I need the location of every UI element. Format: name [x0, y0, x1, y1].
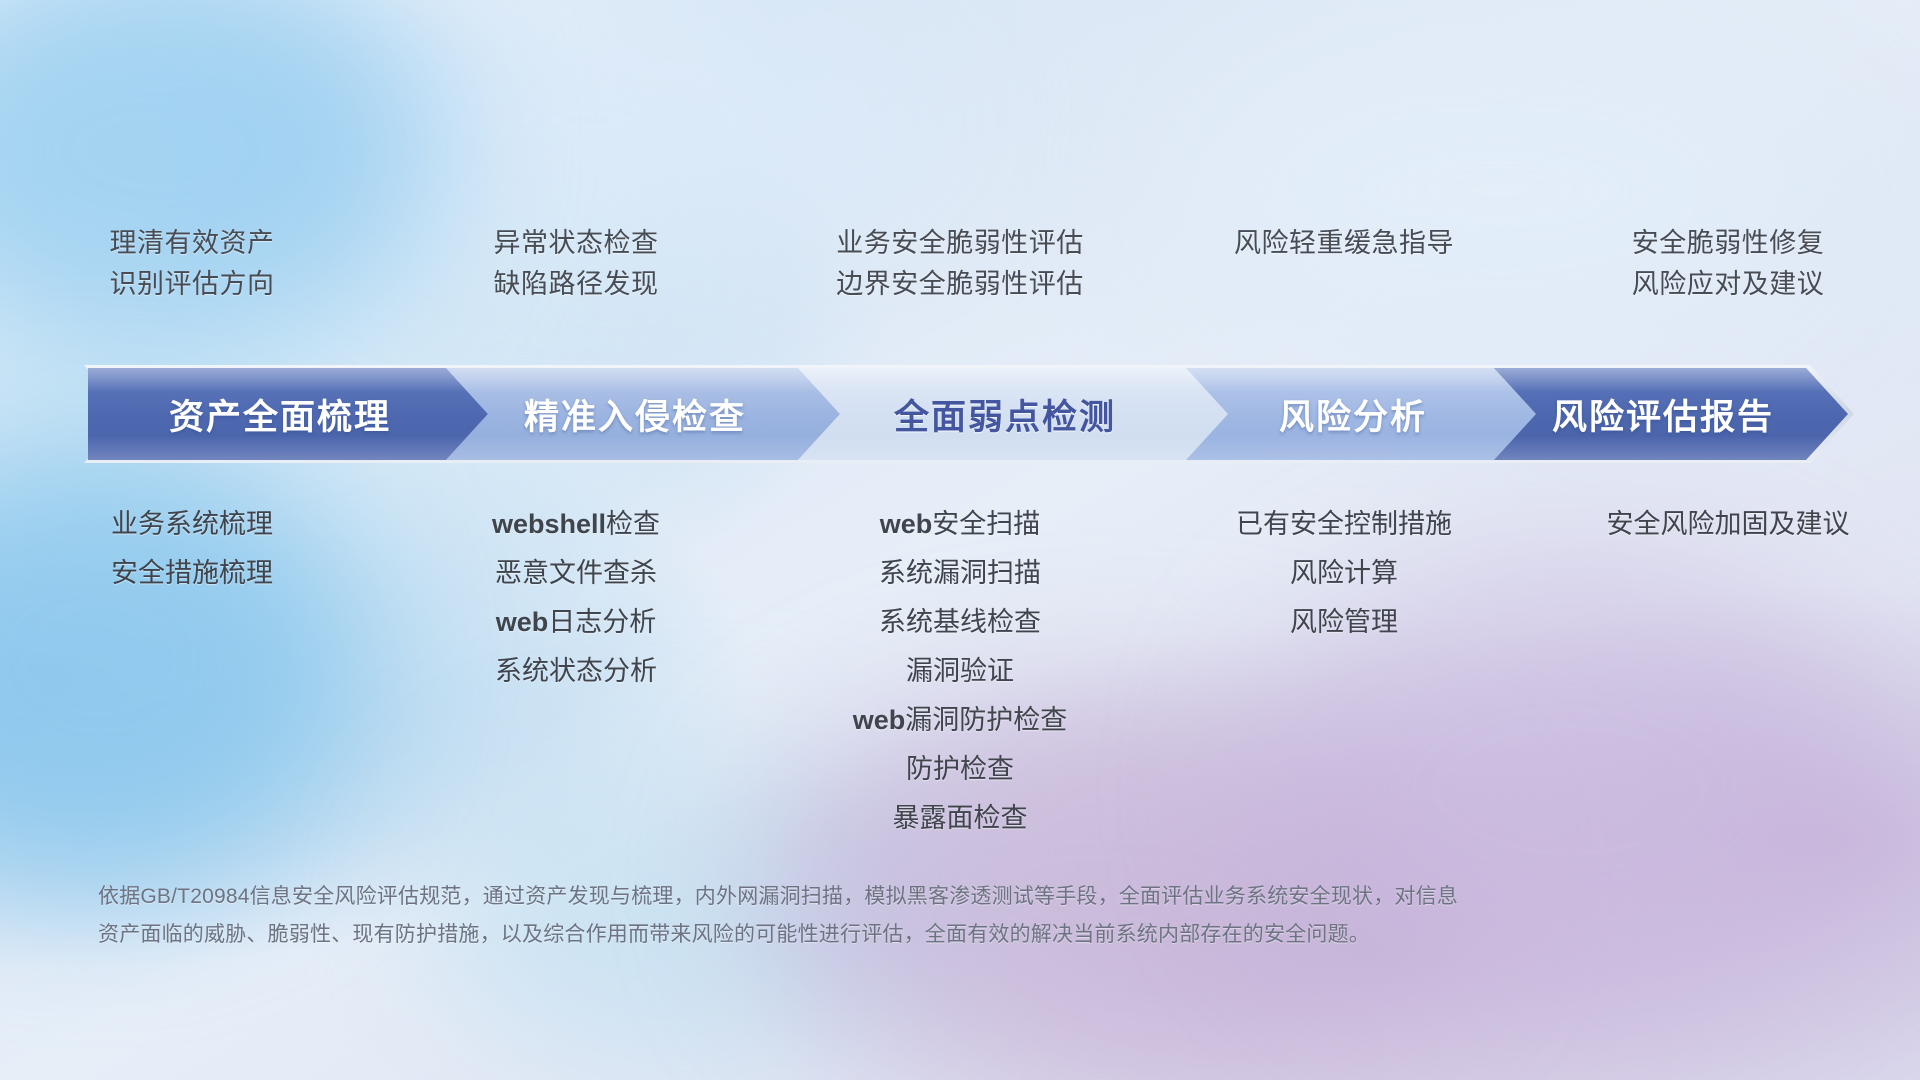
top-label: 业务安全脆弱性评估 — [836, 230, 1084, 257]
list-item: 已有安全控制措施 — [1236, 500, 1452, 549]
footer-line-1: 依据GB/T20984信息安全风险评估规范，通过资产发现与梳理，内外网漏洞扫描，… — [98, 878, 1628, 916]
list-item-cn: 风险管理 — [1290, 607, 1398, 637]
chevron-label: 精准入侵检查 — [524, 389, 746, 440]
list-item-cn: 系统基线检查 — [879, 607, 1041, 637]
list-item-cn: 漏洞防护检查 — [905, 705, 1067, 735]
list-item: 漏洞验证 — [906, 647, 1014, 696]
detail-list-row: 业务系统梳理 安全措施梳理 webshell检查 恶意文件查杀 web日志分析 … — [0, 500, 1920, 843]
list-item-cn: 安全风险加固及建议 — [1607, 509, 1850, 539]
detail-list-stage-2: webshell检查 恶意文件查杀 web日志分析 系统状态分析 — [384, 500, 768, 696]
list-item-cn: 风险计算 — [1290, 558, 1398, 588]
chevron-label: 风险分析 — [1279, 389, 1427, 440]
detail-list-stage-1: 业务系统梳理 安全措施梳理 — [0, 500, 384, 598]
chevron-stage-5[interactable]: 风险评估报告 — [1494, 368, 1848, 460]
list-item-cn: 已有安全控制措施 — [1236, 509, 1452, 539]
top-labels-stage-1: 理清有效资产 识别评估方向 — [0, 230, 384, 340]
list-item-en: webshell — [492, 509, 606, 539]
footer-line-2: 资产面临的威胁、脆弱性、现有防护措施，以及综合作用而带来风险的可能性进行评估，全… — [98, 916, 1628, 954]
top-label: 缺陷路径发现 — [494, 271, 659, 298]
footer-description: 依据GB/T20984信息安全风险评估规范，通过资产发现与梳理，内外网漏洞扫描，… — [98, 878, 1628, 954]
list-item-cn: 防护检查 — [906, 754, 1014, 784]
list-item-cn: 系统漏洞扫描 — [879, 558, 1041, 588]
list-item-cn: 系统状态分析 — [495, 656, 657, 686]
list-item: web漏洞防护检查 — [853, 696, 1068, 745]
chevron-label: 全面弱点检测 — [894, 389, 1116, 440]
top-labels-stage-3: 业务安全脆弱性评估 边界安全脆弱性评估 — [768, 230, 1152, 340]
list-item-cn: 安全措施梳理 — [111, 558, 273, 588]
list-item-en: web — [853, 705, 906, 735]
list-item: 系统状态分析 — [495, 647, 657, 696]
list-item: 风险计算 — [1290, 549, 1398, 598]
top-label: 边界安全脆弱性评估 — [836, 271, 1084, 298]
top-label: 风险轻重缓急指导 — [1234, 230, 1454, 257]
slide-canvas: 理清有效资产 识别评估方向 异常状态检查 缺陷路径发现 业务安全脆弱性评估 边界… — [0, 0, 1920, 1080]
list-item-en: web — [880, 509, 933, 539]
chevron-stage-1[interactable]: 资产全面梳理 — [88, 368, 488, 460]
top-labels-stage-4: 风险轻重缓急指导 — [1152, 230, 1536, 340]
chevron-stage-3[interactable]: 全面弱点检测 — [798, 368, 1228, 460]
list-item: 暴露面检查 — [893, 794, 1028, 843]
chevron-stage-4[interactable]: 风险分析 — [1186, 368, 1536, 460]
detail-list-stage-4: 已有安全控制措施 风险计算 风险管理 — [1152, 500, 1536, 647]
list-item: 业务系统梳理 — [111, 500, 273, 549]
chevron-label: 资产全面梳理 — [169, 389, 391, 440]
list-item-cn: 安全扫描 — [932, 509, 1040, 539]
list-item-cn: 业务系统梳理 — [111, 509, 273, 539]
list-item: 安全措施梳理 — [111, 549, 273, 598]
top-labels-stage-5: 安全脆弱性修复 风险应对及建议 — [1536, 230, 1920, 340]
detail-list-stage-5: 安全风险加固及建议 — [1536, 500, 1920, 549]
list-item-cn: 恶意文件查杀 — [495, 558, 657, 588]
chevron-label: 风险评估报告 — [1552, 389, 1774, 440]
top-labels-stage-2: 异常状态检查 缺陷路径发现 — [384, 230, 768, 340]
list-item: 系统漏洞扫描 — [879, 549, 1041, 598]
list-item-en: web — [496, 607, 549, 637]
process-chevron-band: 资产全面梳理 精准入侵检查 全面弱点检测 风险分析 风险评估报告 — [88, 368, 1848, 460]
top-label: 异常状态检查 — [494, 230, 659, 257]
list-item: webshell检查 — [492, 500, 660, 549]
top-label-row: 理清有效资产 识别评估方向 异常状态检查 缺陷路径发现 业务安全脆弱性评估 边界… — [0, 230, 1920, 340]
list-item: 安全风险加固及建议 — [1607, 500, 1850, 549]
list-item: 风险管理 — [1290, 598, 1398, 647]
chevron-stage-2[interactable]: 精准入侵检查 — [446, 368, 840, 460]
top-label: 识别评估方向 — [110, 271, 275, 298]
top-label: 安全脆弱性修复 — [1632, 230, 1825, 257]
list-item-cn: 日志分析 — [548, 607, 656, 637]
top-label: 风险应对及建议 — [1632, 271, 1825, 298]
list-item-cn: 漏洞验证 — [906, 656, 1014, 686]
list-item-cn: 检查 — [606, 509, 660, 539]
top-label: 理清有效资产 — [110, 230, 275, 257]
list-item: 系统基线检查 — [879, 598, 1041, 647]
list-item: web安全扫描 — [880, 500, 1041, 549]
list-item: 恶意文件查杀 — [495, 549, 657, 598]
list-item: 防护检查 — [906, 745, 1014, 794]
detail-list-stage-3: web安全扫描 系统漏洞扫描 系统基线检查 漏洞验证 web漏洞防护检查 防护检… — [768, 500, 1152, 843]
list-item-cn: 暴露面检查 — [893, 803, 1028, 833]
list-item: web日志分析 — [496, 598, 657, 647]
